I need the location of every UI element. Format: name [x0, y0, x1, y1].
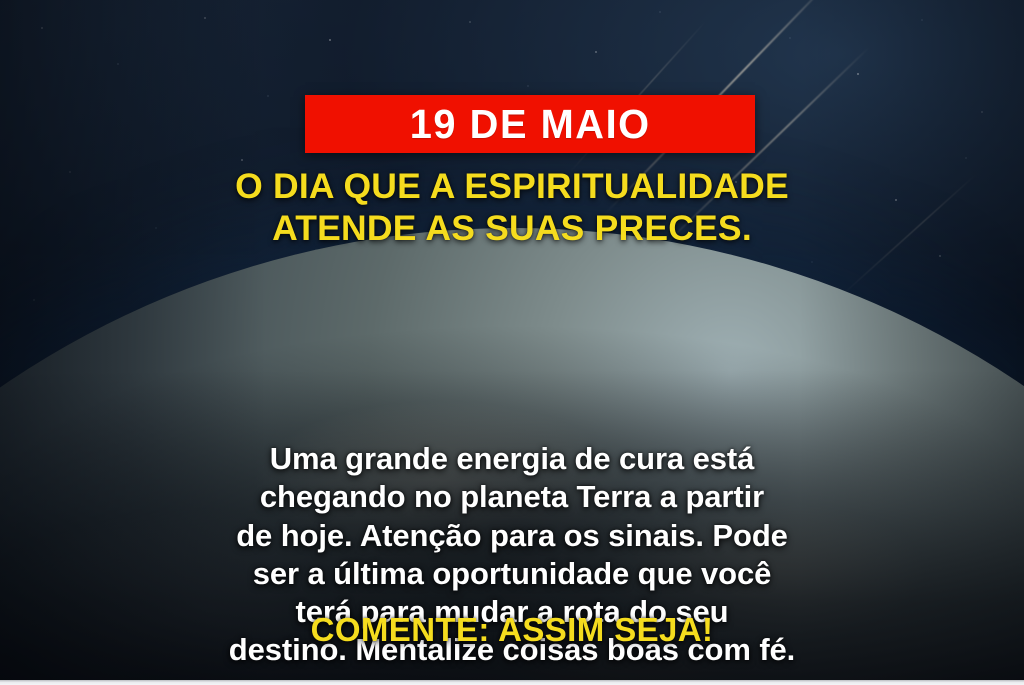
- date-banner-label: 19 DE MAIO: [410, 104, 651, 145]
- headline-line-1: O DIA QUE A ESPIRITUALIDADE: [50, 166, 974, 208]
- date-banner: 19 DE MAIO: [305, 95, 755, 153]
- body-line-3: de hoje. Atenção para os sinais. Pode: [52, 517, 972, 555]
- body-line-4: ser a última oportunidade que você: [52, 555, 972, 593]
- headline-line-2: ATENDE AS SUAS PRECES.: [50, 208, 974, 250]
- poster-canvas: 19 DE MAIO O DIA QUE A ESPIRITUALIDADE A…: [0, 0, 1024, 685]
- body-line-1: Uma grande energia de cura está: [52, 440, 972, 478]
- body-line-2: chegando no planeta Terra a partir: [52, 478, 972, 516]
- bottom-edge-strip: [0, 680, 1024, 685]
- poster-content: 19 DE MAIO O DIA QUE A ESPIRITUALIDADE A…: [0, 0, 1024, 685]
- headline: O DIA QUE A ESPIRITUALIDADE ATENDE AS SU…: [50, 166, 974, 250]
- call-to-action-text: COMENTE: ASSIM SEJA!: [52, 612, 972, 648]
